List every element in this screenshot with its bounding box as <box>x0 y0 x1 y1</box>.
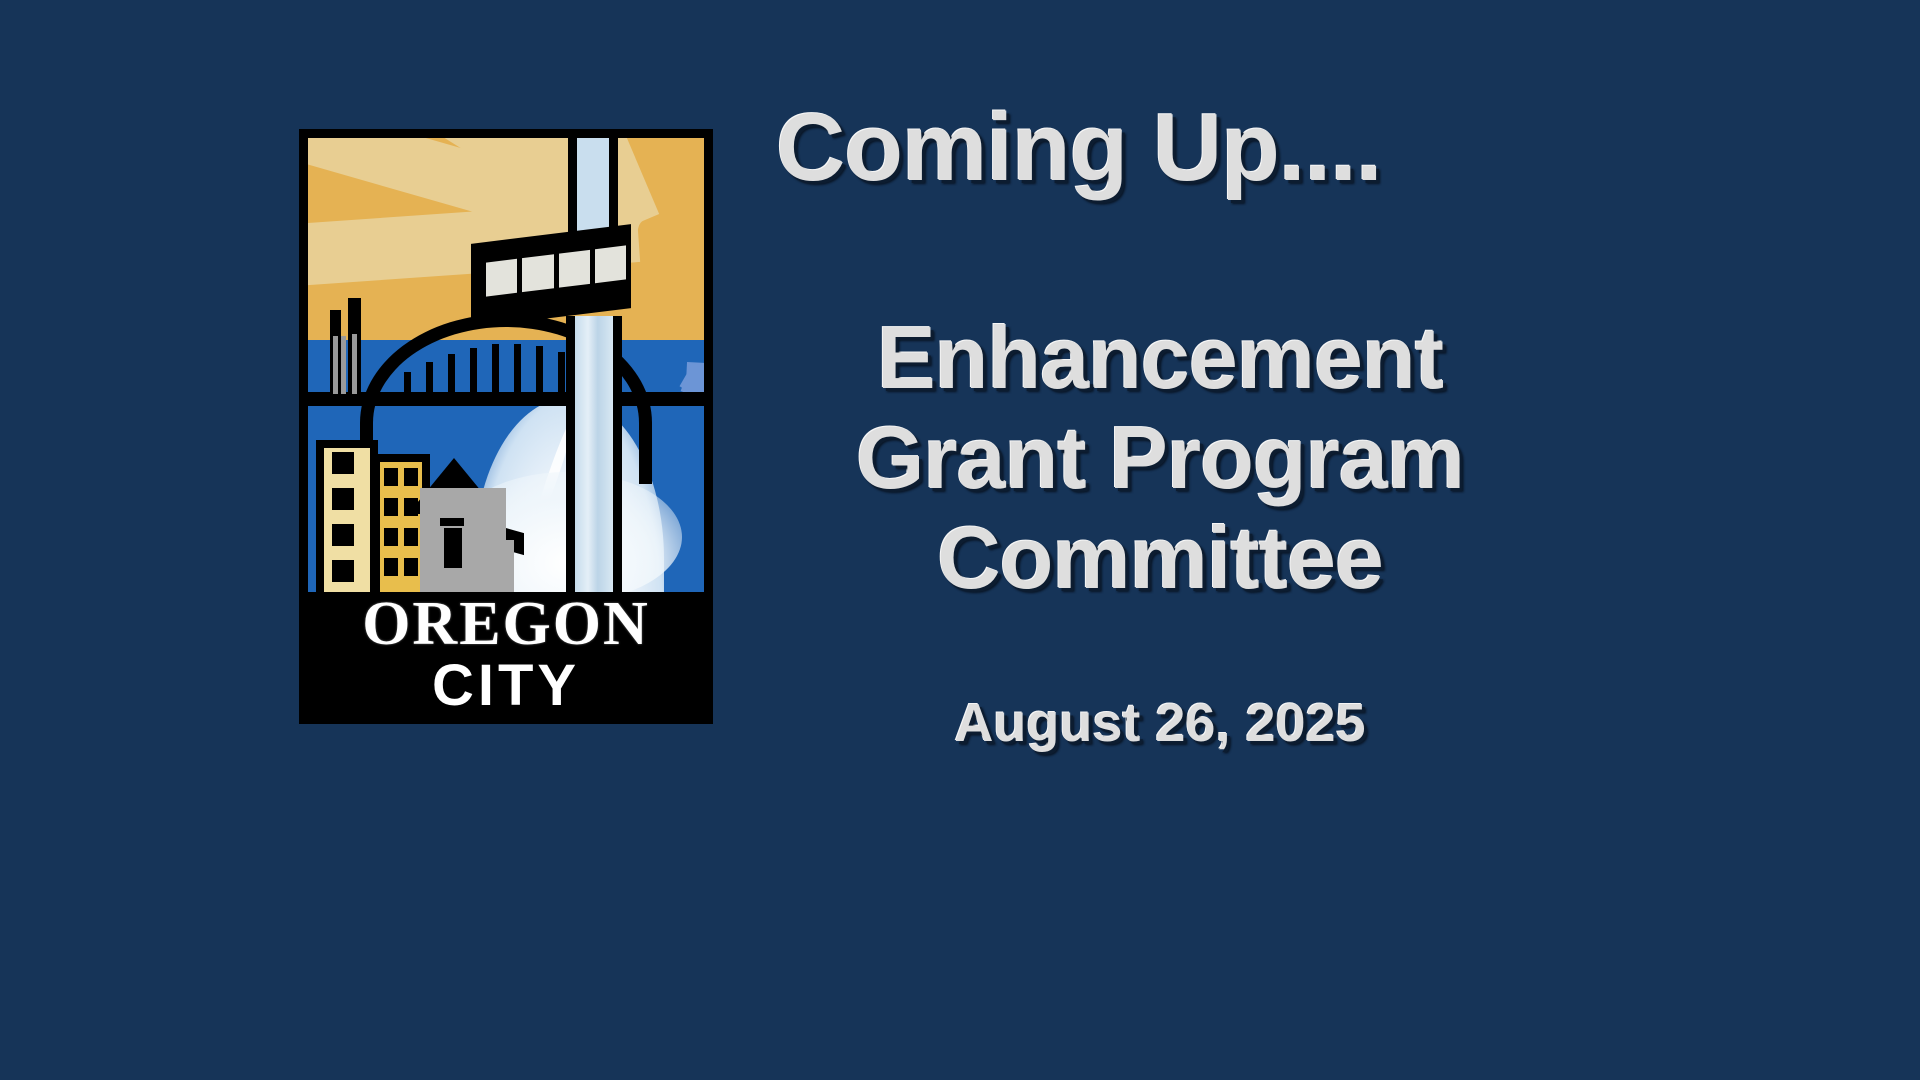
subject-line-2: Grant Program <box>760 408 1560 508</box>
logo-artwork <box>308 138 704 592</box>
logo-wordmark: OREGON CITY <box>308 592 704 718</box>
subject-line-3: Committee <box>760 508 1560 608</box>
tower-shaft-icon <box>566 316 622 592</box>
logo-wordmark-city: CITY <box>308 656 704 716</box>
slide-date: August 26, 2025 <box>760 692 1560 754</box>
logo-wordmark-oregon: OREGON <box>308 592 704 656</box>
slide-headline: Coming Up.... <box>776 96 1560 200</box>
subject-line-1: Enhancement <box>760 308 1560 408</box>
oregon-city-logo: OREGON CITY <box>299 129 713 724</box>
elevator-tower-icon <box>568 138 618 240</box>
house-icon <box>420 488 506 592</box>
presentation-slide: OREGON CITY Coming Up.... Enhancement Gr… <box>0 0 1920 1080</box>
slide-text-block: Coming Up.... Enhancement Grant Program … <box>760 96 1560 754</box>
slide-subject: Enhancement Grant Program Committee <box>760 308 1560 608</box>
